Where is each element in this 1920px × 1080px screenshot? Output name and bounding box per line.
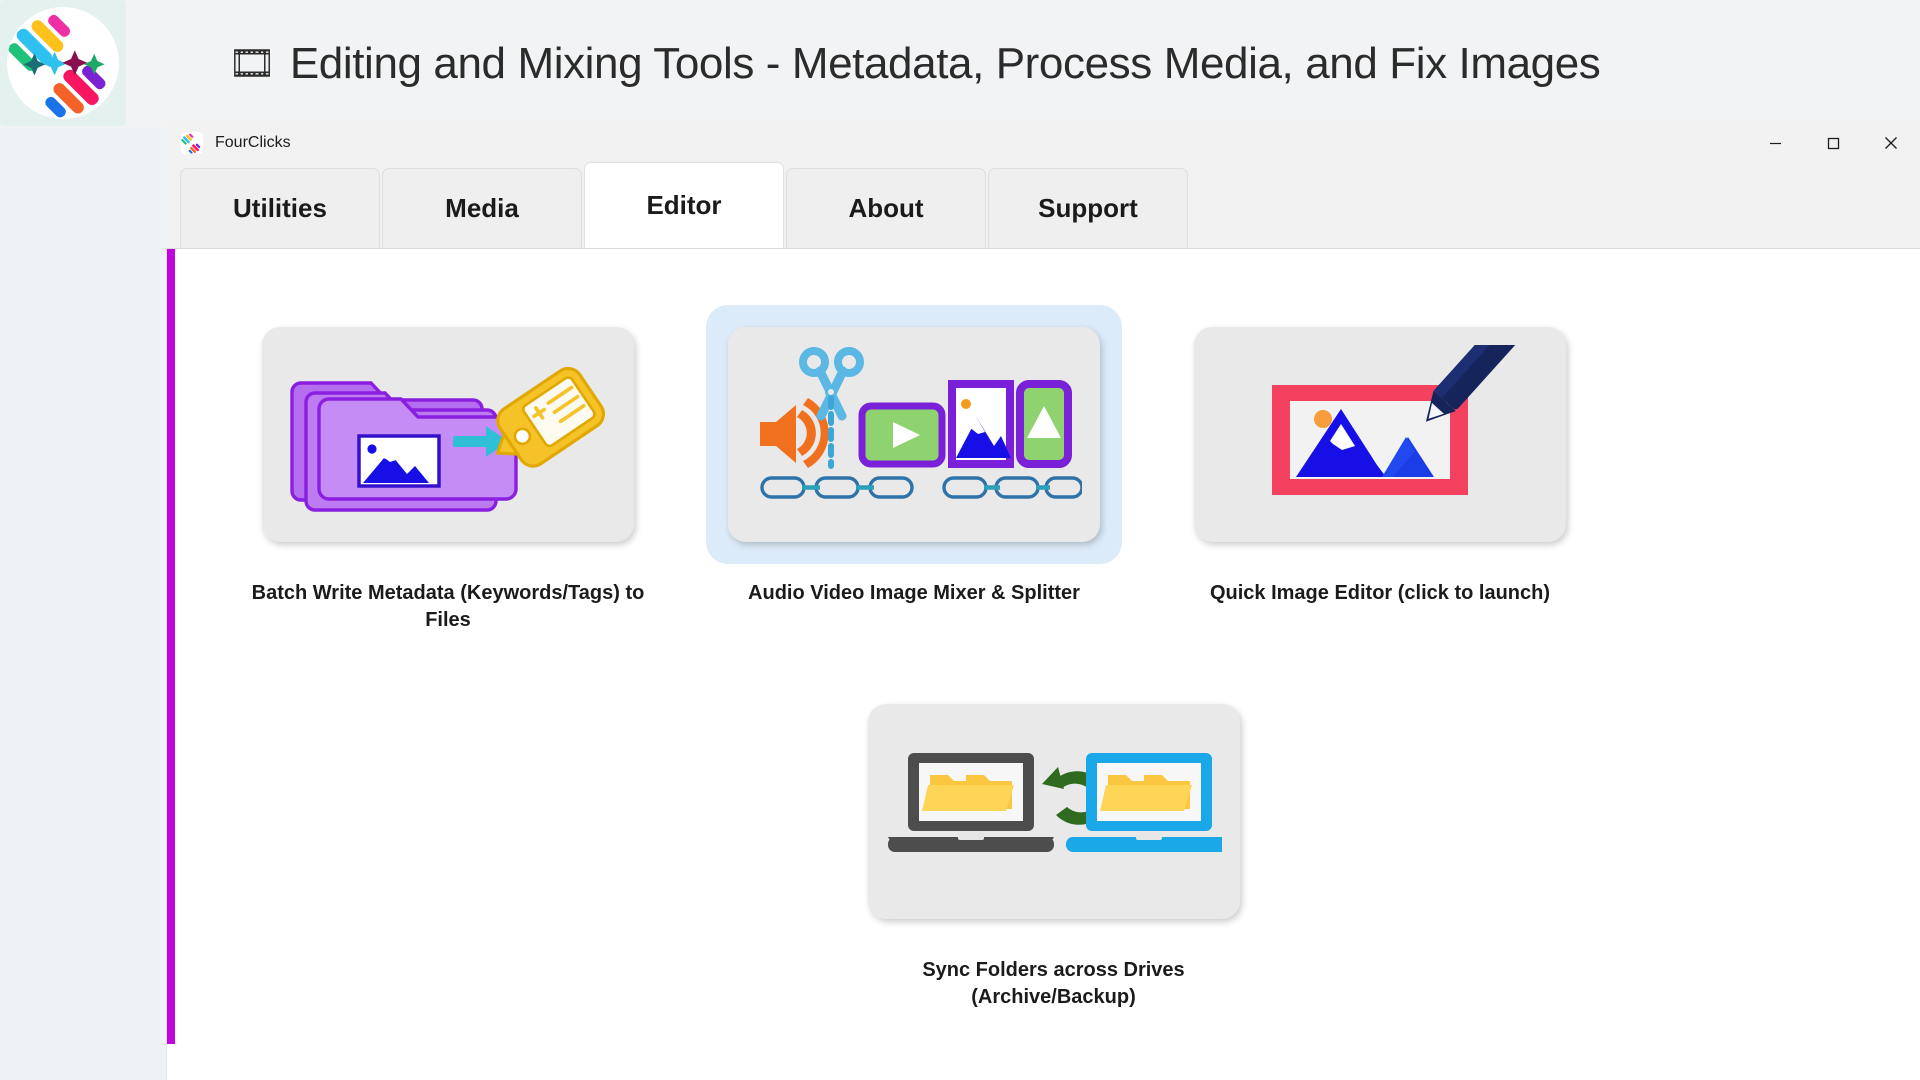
tab-editor[interactable]: Editor bbox=[584, 162, 784, 248]
tab-label: Support bbox=[1038, 193, 1138, 224]
tool-icon-tile[interactable] bbox=[1194, 327, 1566, 542]
app-window: FourClicks bbox=[166, 121, 1920, 1080]
tab-about[interactable]: About bbox=[786, 168, 986, 248]
tool-card-label: Quick Image Editor (click to launch) bbox=[1180, 580, 1580, 607]
tool-card-label: Batch Write Metadata (Keywords/Tags) to … bbox=[248, 580, 648, 634]
tab-label: Editor bbox=[646, 190, 721, 221]
tool-card-row: Sync Folders across Drives (Archive/Back… bbox=[215, 682, 1880, 1011]
tool-card-label: Audio Video Image Mixer & Splitter bbox=[714, 580, 1114, 607]
tool-card-grid: Batch Write Metadata (Keywords/Tags) to … bbox=[175, 249, 1920, 1080]
tool-card-sync-folders-across-drives[interactable]: Sync Folders across Drives (Archive/Back… bbox=[821, 682, 1287, 1011]
tab-content-editor: Batch Write Metadata (Keywords/Tags) to … bbox=[166, 249, 1920, 1080]
maximize-icon bbox=[1827, 137, 1840, 150]
minimize-button[interactable] bbox=[1746, 121, 1804, 165]
window-title: FourClicks bbox=[215, 134, 291, 152]
tab-label: Media bbox=[445, 193, 519, 224]
tool-card-label: Sync Folders across Drives (Archive/Back… bbox=[854, 957, 1254, 1011]
app-logo-tile bbox=[0, 0, 126, 126]
two-laptops-sync-folders-icon bbox=[886, 719, 1222, 904]
close-button[interactable] bbox=[1862, 121, 1920, 165]
tab-bar: Utilities Media Editor About Support bbox=[166, 165, 1920, 249]
maximize-button[interactable] bbox=[1804, 121, 1862, 165]
tab-utilities[interactable]: Utilities bbox=[180, 168, 380, 248]
tab-support[interactable]: Support bbox=[988, 168, 1188, 248]
window-titlebar[interactable]: FourClicks bbox=[166, 121, 1920, 165]
film-frames-icon: 🎞 bbox=[228, 45, 276, 83]
logo-stripes-icon bbox=[7, 7, 119, 119]
close-icon bbox=[1884, 136, 1898, 150]
tab-media[interactable]: Media bbox=[382, 168, 582, 248]
tile-wrapper bbox=[240, 305, 656, 564]
tool-card-row: Batch Write Metadata (Keywords/Tags) to … bbox=[215, 305, 1880, 634]
fourclicks-logo-icon bbox=[7, 7, 119, 119]
page-banner: 🎞 Editing and Mixing Tools - Metadata, P… bbox=[0, 0, 1920, 128]
screen: 🎞 Editing and Mixing Tools - Metadata, P… bbox=[0, 0, 1920, 1080]
page-title: 🎞 Editing and Mixing Tools - Metadata, P… bbox=[228, 30, 1600, 98]
tab-label: About bbox=[848, 193, 923, 224]
logo-stripes-icon-small bbox=[181, 132, 203, 154]
tab-label: Utilities bbox=[233, 193, 327, 224]
accent-bar bbox=[167, 249, 175, 1044]
tool-icon-tile[interactable] bbox=[868, 704, 1240, 919]
window-controls bbox=[1746, 121, 1920, 165]
tile-wrapper bbox=[846, 682, 1262, 941]
tile-wrapper-selected bbox=[706, 305, 1122, 564]
tool-card-quick-image-editor[interactable]: Quick Image Editor (click to launch) bbox=[1147, 305, 1613, 634]
window-titlebar-left: FourClicks bbox=[166, 132, 291, 154]
minimize-icon bbox=[1769, 137, 1782, 150]
page-title-text: Editing and Mixing Tools - Metadata, Pro… bbox=[290, 39, 1601, 89]
fourclicks-logo-icon-small bbox=[181, 132, 203, 154]
speaker-scissors-video-image-chain-icon bbox=[746, 340, 1082, 530]
picture-frame-with-pencil-icon bbox=[1230, 345, 1530, 525]
tool-icon-tile[interactable] bbox=[728, 327, 1100, 542]
tool-card-batch-write-metadata[interactable]: Batch Write Metadata (Keywords/Tags) to … bbox=[215, 305, 681, 634]
tool-icon-tile[interactable] bbox=[262, 327, 634, 542]
tool-card-audio-video-image-mixer-splitter[interactable]: Audio Video Image Mixer & Splitter bbox=[681, 305, 1147, 634]
tile-wrapper bbox=[1172, 305, 1588, 564]
folders-with-tag-icon bbox=[283, 337, 613, 532]
